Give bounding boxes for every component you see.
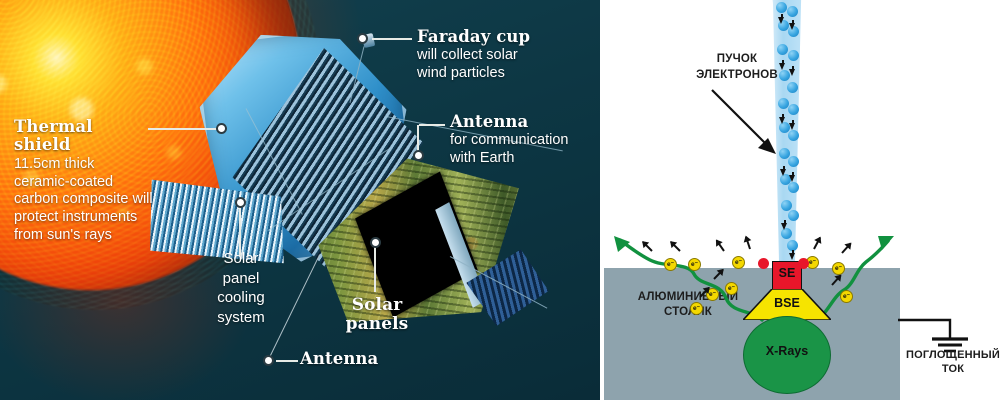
beam-direction-arrow	[778, 17, 784, 24]
beam-direction-arrow	[789, 175, 795, 182]
callout-title-thermal-shield: Thermal shield	[14, 118, 154, 155]
incident-particle-red	[798, 258, 809, 269]
callout-dot-thermal-shield	[216, 123, 227, 134]
beam-electron	[788, 182, 799, 193]
emission-arrow	[716, 240, 725, 252]
beam-electron	[776, 2, 787, 13]
leader-stub-antenna-lower	[276, 360, 298, 362]
beam-electron	[787, 82, 798, 93]
left-panel-spacecraft-illustration: Thermal shield 11.5cm thick ceramic-coat…	[0, 0, 600, 400]
callout-body-thermal-shield: 11.5cm thick ceramic-coated carbon compo…	[14, 156, 174, 244]
callout-title-antenna-lower: Antenna	[300, 350, 378, 368]
beam-electron	[788, 210, 799, 221]
beam-electron	[788, 104, 799, 115]
emission-arrow	[813, 237, 821, 249]
callout-dot-solar-panel-cooling	[235, 197, 246, 208]
emitted-electron: e⁻	[688, 258, 701, 271]
leader-line-thermal-shield	[148, 128, 221, 130]
emitted-electron: e⁻	[725, 282, 738, 295]
beam-electron	[781, 200, 792, 211]
emission-arrow	[670, 241, 681, 252]
beam-electron	[788, 156, 799, 167]
right-panel-interaction-volume-diagram: АЛЮМИНИЕВЫЙ СТОЛИК	[600, 0, 1000, 400]
callout-solar-panels: Solar panels	[327, 296, 427, 334]
incident-particle-red	[758, 258, 769, 269]
callout-thermal-shield: Thermal shield 11.5cm thick ceramic-coat…	[14, 118, 154, 244]
callout-title-solar-panels: Solar panels	[327, 296, 427, 334]
emitted-electron: e⁻	[840, 290, 853, 303]
callout-title-solar-panel-cooling: Solar panel cooling system	[200, 249, 282, 327]
callout-solar-panel-cooling: Solar panel cooling system	[200, 248, 282, 327]
callout-body-antenna-comms: for communication with Earth	[450, 132, 600, 167]
beam-direction-arrow	[781, 223, 787, 230]
beam-direction-arrow	[789, 123, 795, 130]
aluminium-stage-label: АЛЮМИНИЕВЫЙ СТОЛИК	[618, 290, 758, 320]
callout-antenna-lower: Antenna	[300, 350, 378, 368]
callout-antenna-comms: Antenna for communication with Earth	[450, 113, 600, 168]
callout-body-faraday-cup: will collect solar wind particles	[417, 47, 587, 82]
callout-title-faraday-cup: Faraday cup	[417, 28, 587, 46]
emission-arrow	[642, 241, 653, 252]
zone-label-xrays: X-Rays	[743, 344, 831, 358]
emitted-electron: e⁻	[732, 256, 745, 269]
callout-faraday-cup: Faraday cup will collect solar wind part…	[417, 28, 587, 83]
callout-dot-solar-panels	[370, 237, 381, 248]
electron-beam-label: ПУЧОК ЭЛЕКТРОНОВ	[672, 52, 802, 83]
leader-line-antenna-comms	[419, 124, 445, 126]
callout-dot-antenna-lower	[263, 355, 274, 366]
emitted-electron: e⁻	[690, 302, 703, 315]
callout-dot-antenna-comms	[413, 150, 424, 161]
absorbed-current-label: ПОГЛОЩЕННЫЙ ТОК	[905, 348, 1000, 377]
beam-direction-arrow	[780, 169, 786, 176]
leader-line-solar-panels	[374, 244, 376, 292]
screenshot-root: Thermal shield 11.5cm thick ceramic-coat…	[0, 0, 1000, 400]
zone-label-se: SE	[772, 266, 802, 280]
emitted-electron: e⁻	[664, 258, 677, 271]
leader-line-faraday-cup	[372, 38, 412, 40]
beam-electron	[787, 6, 798, 17]
beam-direction-arrow	[789, 23, 795, 30]
beam-direction-arrow	[789, 253, 795, 260]
beam-electron	[788, 130, 799, 141]
callout-dot-faraday-cup	[357, 33, 368, 44]
emission-arrow	[745, 236, 751, 249]
callout-title-antenna-comms: Antenna	[450, 113, 600, 131]
electron-beam-pointer-arrow	[710, 88, 782, 160]
emission-arrow	[841, 243, 851, 254]
zone-label-bse: BSE	[751, 296, 823, 310]
